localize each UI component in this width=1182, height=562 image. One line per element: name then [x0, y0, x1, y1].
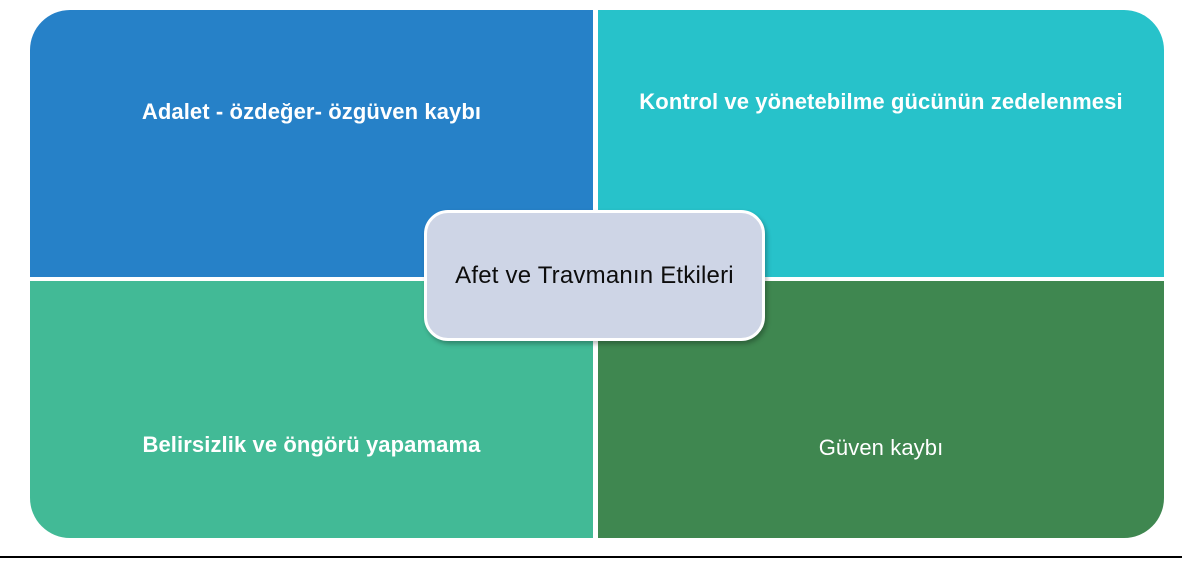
bottom-rule-divider	[0, 556, 1182, 558]
slide-canvas: Adalet - özdeğer- özgüven kaybı Kontrol …	[0, 0, 1182, 562]
center-callout-label: Afet ve Travmanın Etkileri	[427, 260, 762, 291]
quadrant-bottom-right-label: Güven kaybı	[632, 434, 1130, 461]
quadrant-bottom-left-label: Belirsizlik ve öngörü yapamama	[64, 431, 559, 458]
quadrant-top-right-label: Kontrol ve yönetebilme gücünün zedelenme…	[632, 88, 1130, 115]
quadrant-top-left-label: Adalet - özdeğer- özgüven kaybı	[64, 98, 559, 125]
center-callout[interactable]: Afet ve Travmanın Etkileri	[424, 210, 765, 341]
